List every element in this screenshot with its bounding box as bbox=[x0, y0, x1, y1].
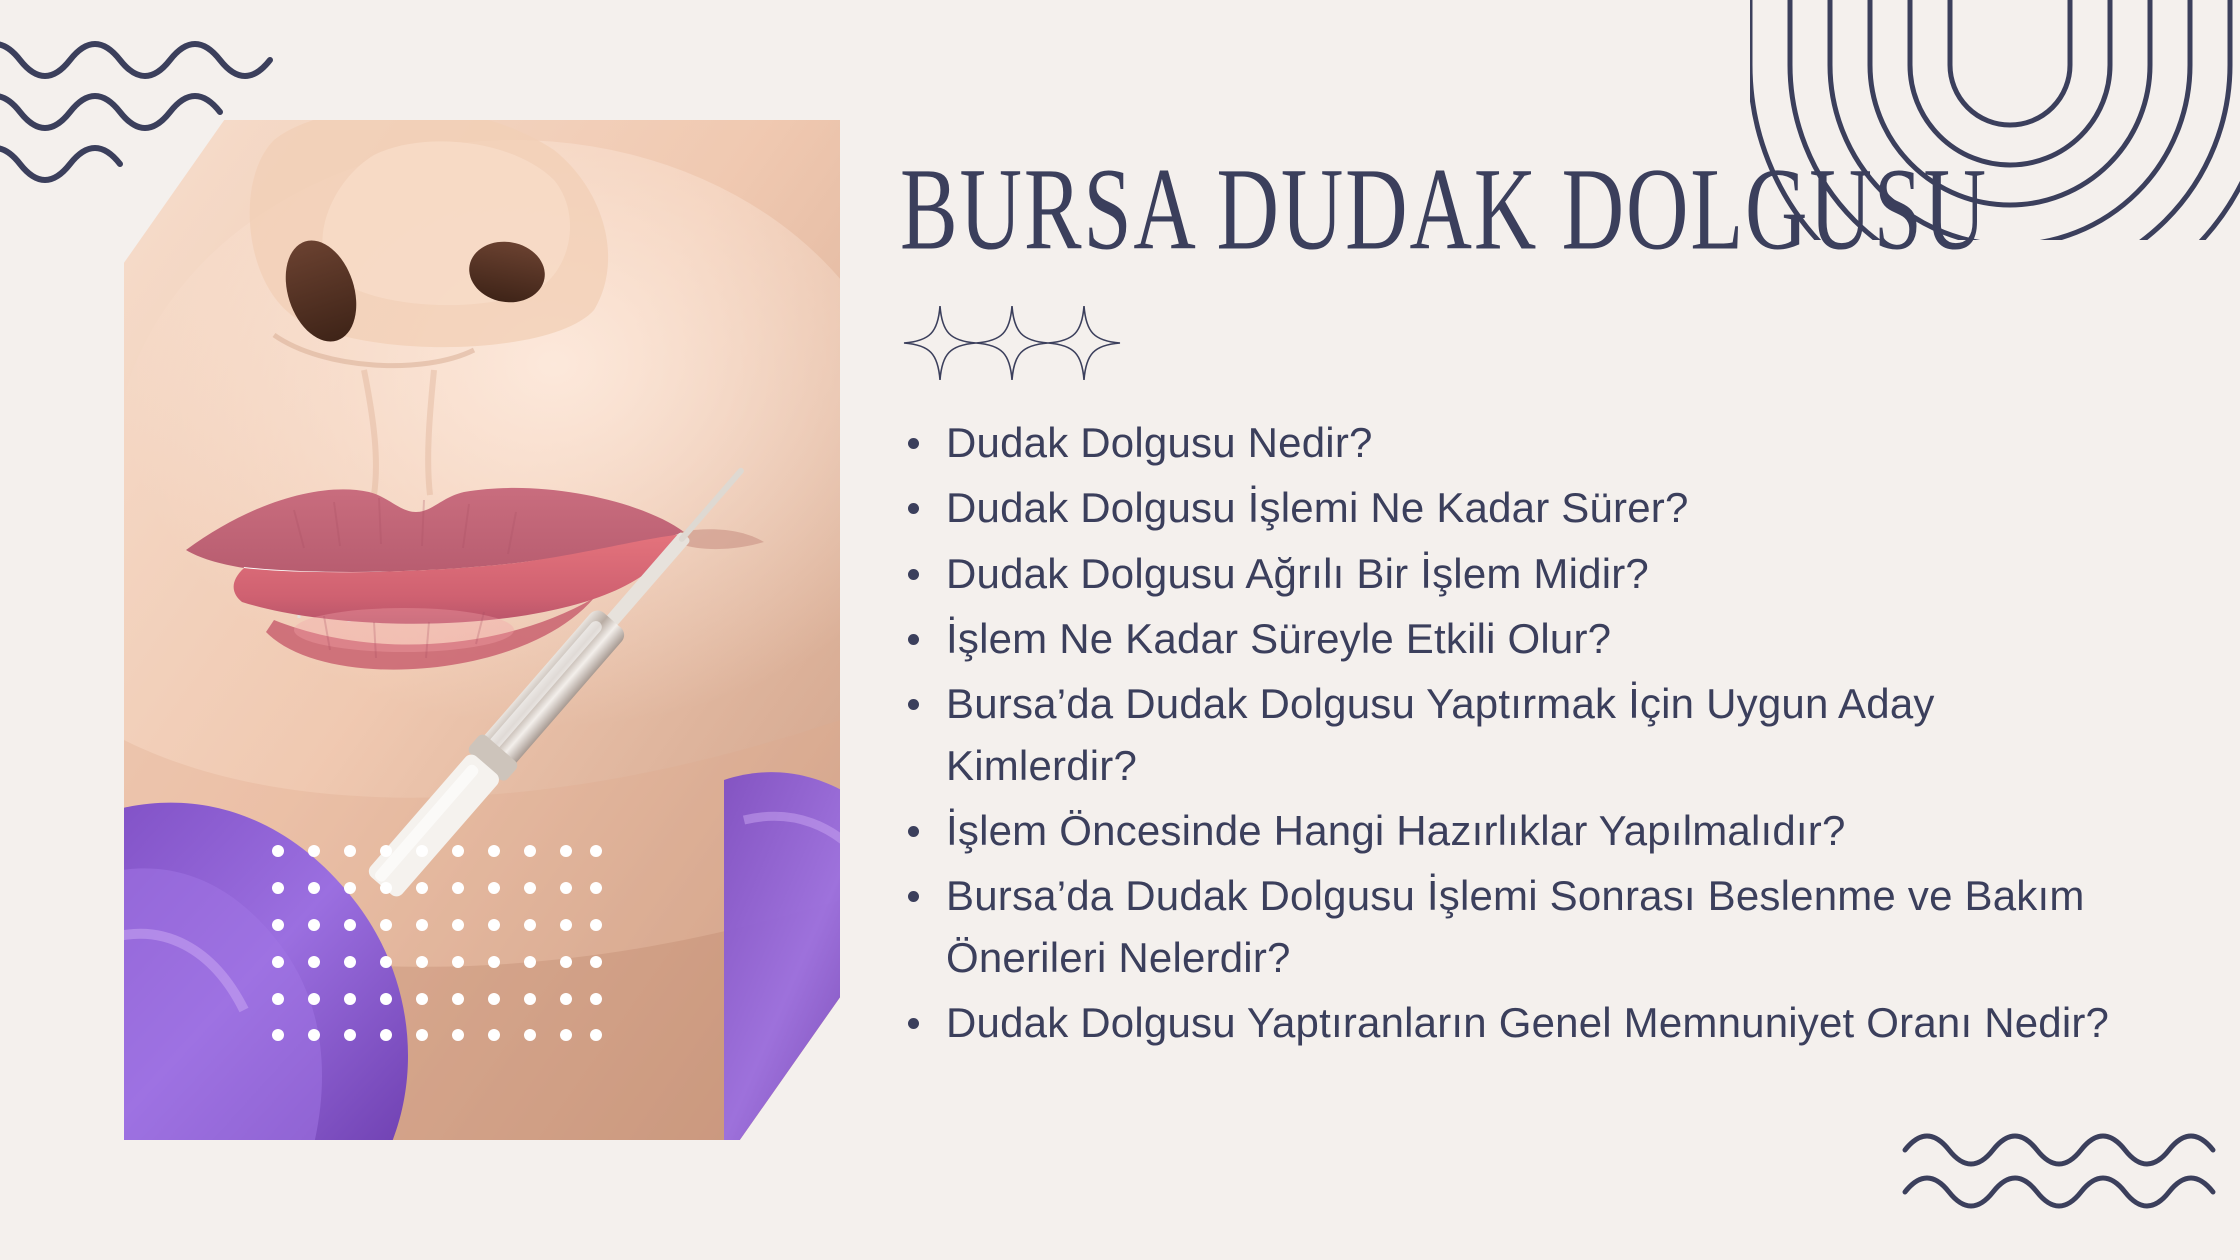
list-item[interactable]: Dudak Dolgusu Nedir? bbox=[900, 412, 2130, 473]
list-item[interactable]: Dudak Dolgusu Ağrılı Bir İşlem Midir? bbox=[900, 543, 2130, 604]
content-column: BURSA DUDAK DOLGUSU Dudak Dolgusu Nedir?… bbox=[900, 150, 2130, 1057]
list-item-label: Bursa’da Dudak Dolgusu İşlemi Sonrası Be… bbox=[946, 872, 2085, 980]
list-item[interactable]: İşlem Öncesinde Hangi Hazırlıklar Yapılm… bbox=[900, 800, 2130, 861]
bullet-icon bbox=[908, 891, 919, 902]
bullet-icon bbox=[908, 503, 919, 514]
lip-filler-photo bbox=[124, 120, 840, 1140]
list-item-label: Bursa’da Dudak Dolgusu Yaptırmak İçin Uy… bbox=[946, 680, 1935, 788]
wave-lines-icon bbox=[1900, 1110, 2220, 1230]
list-item-label: Dudak Dolgusu İşlemi Ne Kadar Sürer? bbox=[946, 484, 1689, 531]
list-item[interactable]: Dudak Dolgusu Yaptıranların Genel Memnun… bbox=[900, 992, 2130, 1053]
list-item-label: Dudak Dolgusu Nedir? bbox=[946, 419, 1373, 466]
bullet-icon bbox=[908, 826, 919, 837]
bullet-icon bbox=[908, 438, 919, 449]
bullet-icon bbox=[908, 1018, 919, 1029]
faq-list: Dudak Dolgusu Nedir? Dudak Dolgusu İşlem… bbox=[900, 412, 2130, 1053]
list-item[interactable]: İşlem Ne Kadar Süreyle Etkili Olur? bbox=[900, 608, 2130, 669]
photo-illustration bbox=[124, 120, 840, 1140]
sparkle-divider bbox=[902, 304, 1122, 382]
bullet-icon bbox=[908, 634, 919, 645]
list-item-label: İşlem Ne Kadar Süreyle Etkili Olur? bbox=[946, 615, 1611, 662]
sparkle-icon bbox=[902, 304, 1122, 382]
list-item-label: Dudak Dolgusu Yaptıranların Genel Memnun… bbox=[946, 999, 2109, 1046]
list-item[interactable]: Bursa’da Dudak Dolgusu İşlemi Sonrası Be… bbox=[900, 865, 2130, 988]
poster-canvas: BURSA DUDAK DOLGUSU Dudak Dolgusu Nedir?… bbox=[0, 0, 2240, 1260]
list-item[interactable]: Dudak Dolgusu İşlemi Ne Kadar Sürer? bbox=[900, 477, 2130, 538]
page-title: BURSA DUDAK DOLGUSU bbox=[900, 150, 2056, 268]
wave-decoration-bottom-right bbox=[1900, 1110, 2220, 1230]
list-item-label: İşlem Öncesinde Hangi Hazırlıklar Yapılm… bbox=[946, 807, 1846, 854]
list-item-label: Dudak Dolgusu Ağrılı Bir İşlem Midir? bbox=[946, 550, 1649, 597]
bullet-icon bbox=[908, 699, 919, 710]
bullet-icon bbox=[908, 569, 919, 580]
list-item[interactable]: Bursa’da Dudak Dolgusu Yaptırmak İçin Uy… bbox=[900, 673, 2130, 796]
